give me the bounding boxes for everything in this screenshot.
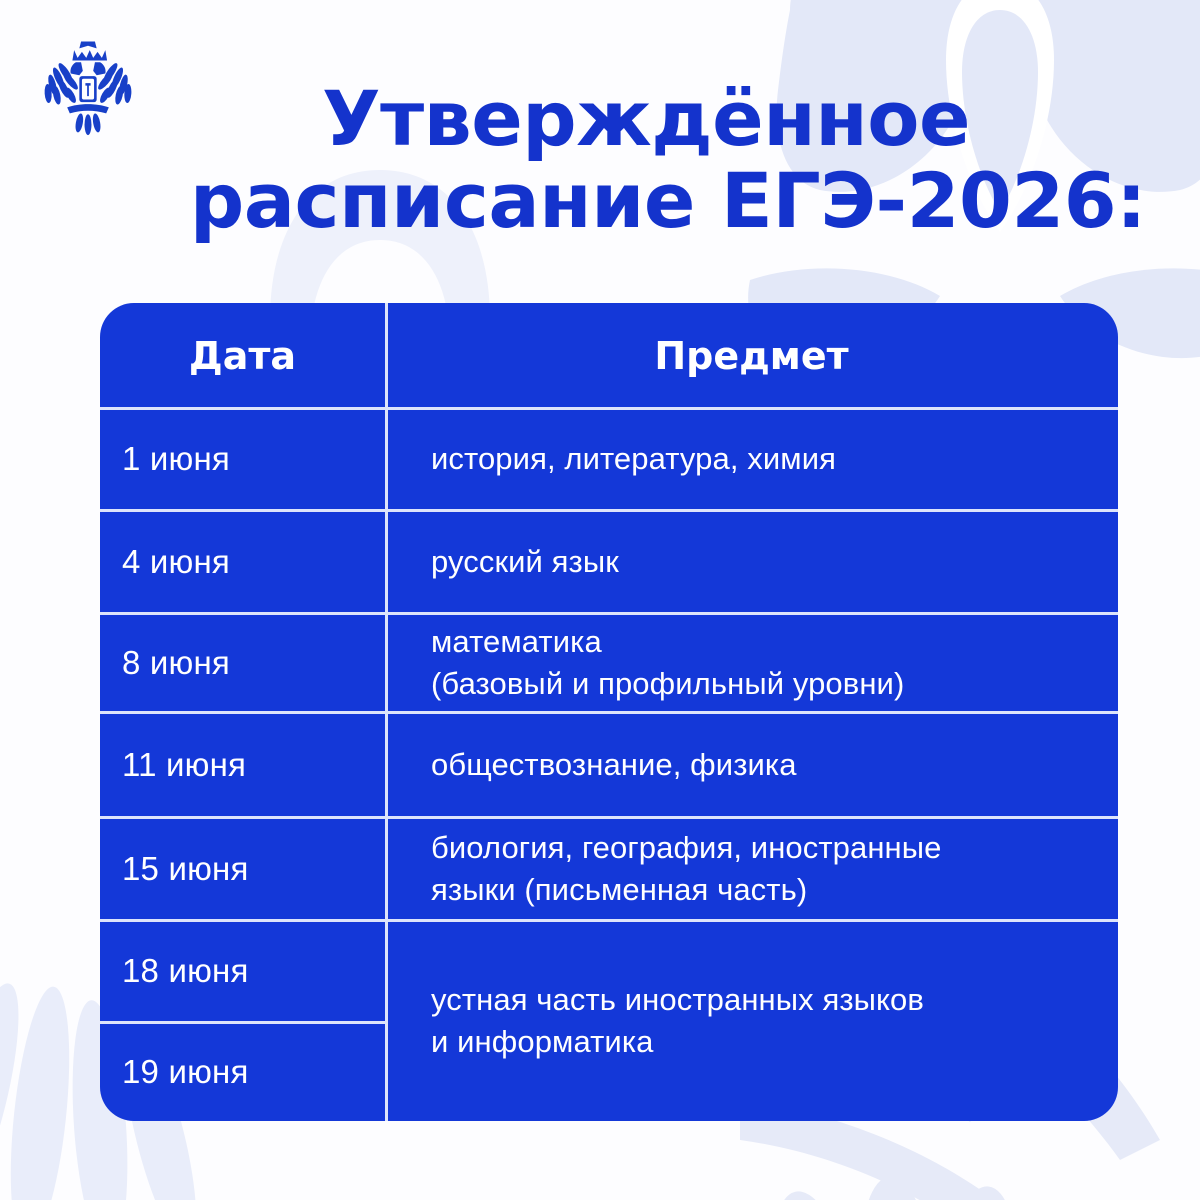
row-divider [100,816,1118,819]
cell-date: 18 июня [100,920,385,1022]
subject-line: устная часть иностранных языков [431,979,924,1021]
table-row: 4 июня русский язык [100,510,1118,613]
subject-line: русский язык [431,541,619,583]
cell-date: 8 июня [100,613,385,712]
subject-line: биология, география, иностранные [431,827,942,869]
subject-line: языки (письменная часть) [431,869,942,911]
subject-line: и информатика [431,1021,924,1063]
table-row: 8 июня математика (базовый и профильный … [100,613,1118,712]
cell-date: 19 июня [100,1022,385,1121]
row-divider [100,919,1118,922]
row-divider [100,711,1118,714]
page-title: Утверждённое расписание ЕГЭ-2026: [96,78,1146,242]
subject-line: обществознание, физика [431,744,797,786]
table-header-row: Дата Предмет [100,303,1118,408]
row-divider [100,509,1118,512]
subject-line: математика [431,621,904,663]
subject-line: (базовый и профильный уровни) [431,663,904,705]
cell-subject: история, литература, химия [385,408,1118,510]
poster-canvas: Утверждённое расписание ЕГЭ-2026: Дата П… [0,0,1200,1200]
row-divider-partial [100,1021,387,1024]
cell-date: 11 июня [100,712,385,817]
cell-date: 15 июня [100,817,385,920]
row-divider [100,407,1118,410]
exam-schedule-table: Дата Предмет 1 июня история, литература,… [100,303,1118,1121]
column-header-date: Дата [100,303,385,408]
cell-subject: математика (базовый и профильный уровни) [385,613,1118,712]
cell-subject: обществознание, физика [385,712,1118,817]
row-divider [100,612,1118,615]
cell-subject: биология, география, иностранные языки (… [385,817,1118,920]
subject-line: история, литература, химия [431,438,836,480]
page-title-line-2: расписание ЕГЭ-2026: [96,160,1146,242]
table-row: 15 июня биология, география, иностранные… [100,817,1118,920]
table-row: 1 июня история, литература, химия [100,408,1118,510]
page-title-line-1: Утверждённое [96,78,1146,160]
table-row: 11 июня обществознание, физика [100,712,1118,817]
cell-date: 4 июня [100,510,385,613]
cell-date: 1 июня [100,408,385,510]
column-divider [385,303,388,1121]
cell-subject: русский язык [385,510,1118,613]
column-header-subject: Предмет [385,303,1118,408]
cell-subject-merged: устная часть иностранных языков и информ… [385,920,1118,1121]
